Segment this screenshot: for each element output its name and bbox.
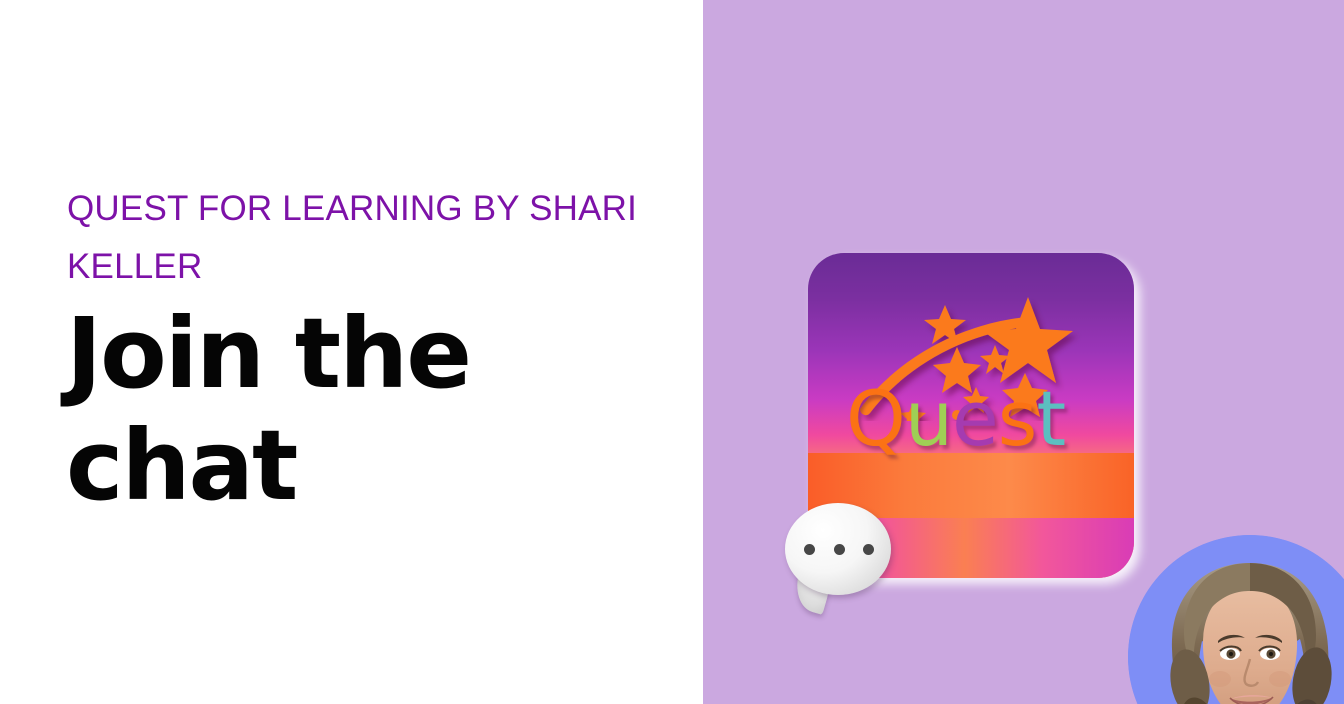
typing-dots (804, 542, 874, 556)
avatar-portrait (1128, 535, 1344, 704)
typing-dot (834, 544, 845, 555)
typing-dot (804, 544, 815, 555)
chat-bubble-icon (785, 503, 891, 615)
avatar (1128, 535, 1344, 704)
wordmark-letter-s: s (998, 379, 1037, 459)
wordmark-letter-u: u (905, 379, 952, 459)
wordmark-letter-q: Q (846, 379, 905, 459)
quest-wordmark: Quest (846, 379, 1106, 459)
eyebrow-subtitle: QUEST FOR LEARNING BY SHARI KELLER (67, 180, 677, 296)
slide-canvas: QUEST FOR LEARNING BY SHARI KELLER Join … (0, 0, 1344, 704)
wordmark-letter-e: e (952, 379, 998, 459)
typing-dot (863, 544, 874, 555)
right-visual-panel: Quest (703, 0, 1344, 704)
left-text-panel: QUEST FOR LEARNING BY SHARI KELLER Join … (0, 0, 703, 704)
wordmark-letter-t: t (1036, 379, 1065, 459)
page-title: Join the chat (66, 298, 666, 522)
